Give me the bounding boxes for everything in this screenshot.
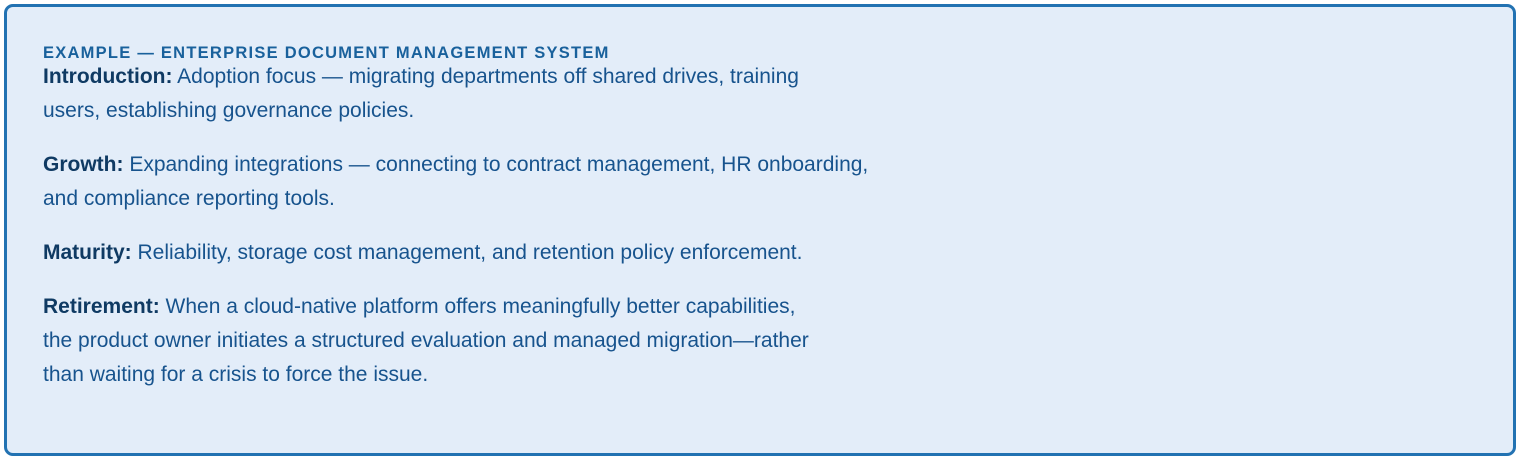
lifecycle-paragraph-maturity: Maturity: Reliability, storage cost mana… [43,236,1043,270]
lifecycle-paragraph-introduction: Introduction: Adoption focus — migrating… [43,60,1043,128]
paragraph-label-growth: Growth: [43,153,123,176]
lifecycle-paragraph-retirement: Retirement: When a cloud-native platform… [43,290,1043,392]
paragraph-label-retirement: Retirement: [43,295,160,318]
paragraph-label-introduction: Introduction: [43,65,172,88]
paragraph-text-growth: Expanding integrations — connecting to c… [43,153,868,210]
paragraph-text-maturity: Reliability, storage cost management, an… [132,241,803,264]
paragraph-label-maturity: Maturity: [43,241,132,264]
lifecycle-paragraph-stack: Introduction: Adoption focus — migrating… [43,60,1043,392]
example-callout-panel: EXAMPLE — ENTERPRISE DOCUMENT MANAGEMENT… [4,4,1516,456]
lifecycle-paragraph-growth: Growth: Expanding integrations — connect… [43,148,1043,216]
